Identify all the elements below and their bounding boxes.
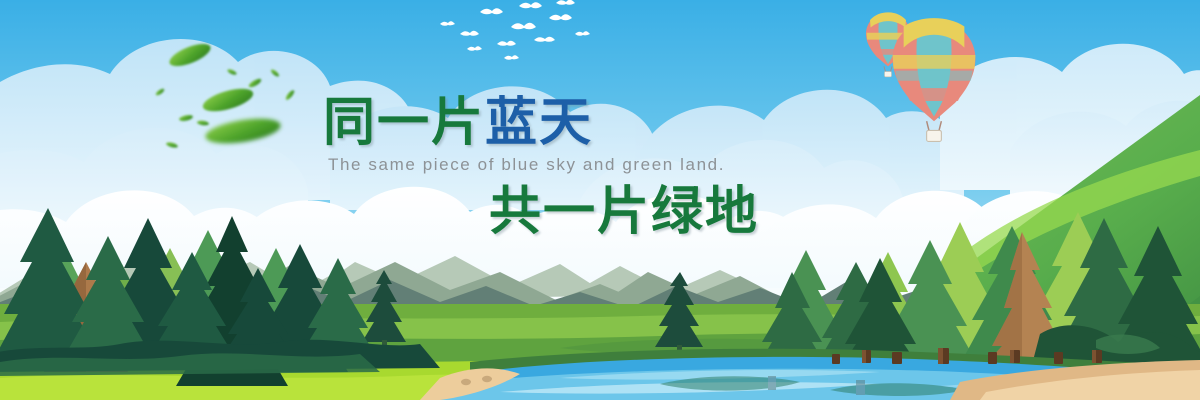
nature-banner: 同一片蓝天 The same piece of blue sky and gre… — [0, 0, 1200, 400]
stump-group — [832, 348, 1102, 364]
tree-stumps — [0, 0, 1200, 400]
